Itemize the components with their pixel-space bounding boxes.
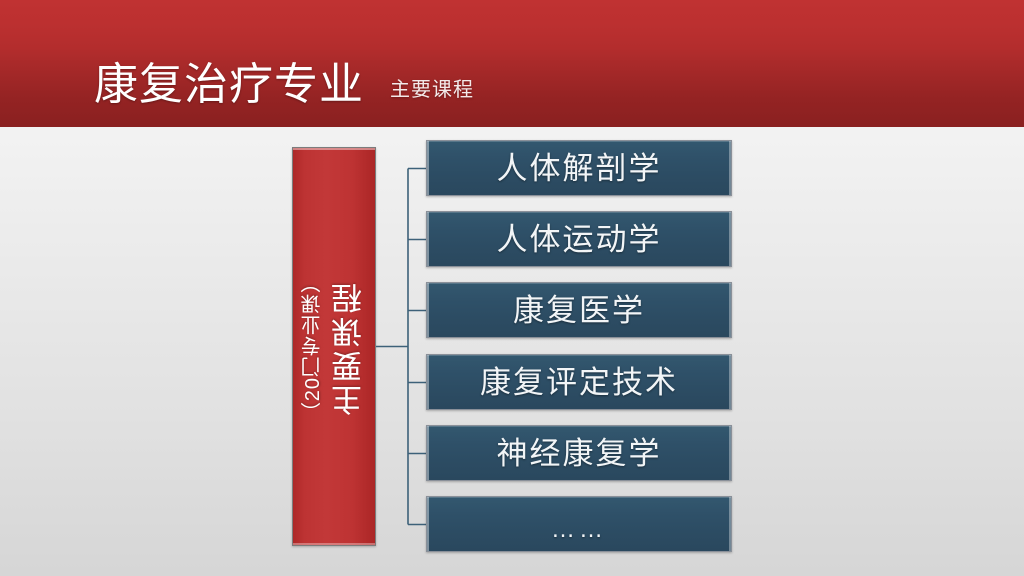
course-box-4[interactable]: 康复评定技术 bbox=[426, 354, 732, 410]
course-tree-diagram: 主要课程 （20门专业课） 人体解剖学 bbox=[0, 127, 1024, 576]
course-label: 人体运动学 bbox=[497, 224, 662, 255]
course-label: …… bbox=[551, 518, 607, 542]
diagram-root-node: 主要课程 （20门专业课） bbox=[292, 147, 376, 546]
course-box-3[interactable]: 康复医学 bbox=[426, 282, 732, 338]
root-node-label: 主要课程 bbox=[327, 280, 372, 416]
slide-header-banner: 康复治疗专业 主要课程 bbox=[0, 0, 1024, 127]
header-text-group: 康复治疗专业 主要课程 bbox=[94, 63, 474, 107]
course-box-2[interactable]: 人体运动学 bbox=[426, 211, 732, 267]
page-title: 康复治疗专业 bbox=[94, 63, 364, 107]
page-subtitle: 主要课程 bbox=[390, 80, 474, 100]
course-label: 人体解剖学 bbox=[497, 153, 662, 184]
diagram-connector-lines bbox=[376, 127, 432, 576]
root-node-sublabel: （20门专业课） bbox=[298, 272, 327, 422]
course-box-1[interactable]: 人体解剖学 bbox=[426, 140, 732, 196]
course-label: 康复评定技术 bbox=[480, 367, 678, 398]
root-node-text-group: 主要课程 （20门专业课） bbox=[293, 148, 377, 547]
course-box-5[interactable]: 神经康复学 bbox=[426, 425, 732, 481]
slide: 康复治疗专业 主要课程 主要课程 （20门专业课） bbox=[0, 0, 1024, 576]
course-label: 康复医学 bbox=[513, 295, 645, 326]
diagram-leaf-column: 人体解剖学 人体运动学 康复医学 康复评定技术 神经康复学 …… bbox=[426, 127, 732, 576]
course-box-6[interactable]: …… bbox=[426, 496, 732, 552]
course-label: 神经康复学 bbox=[497, 438, 662, 469]
